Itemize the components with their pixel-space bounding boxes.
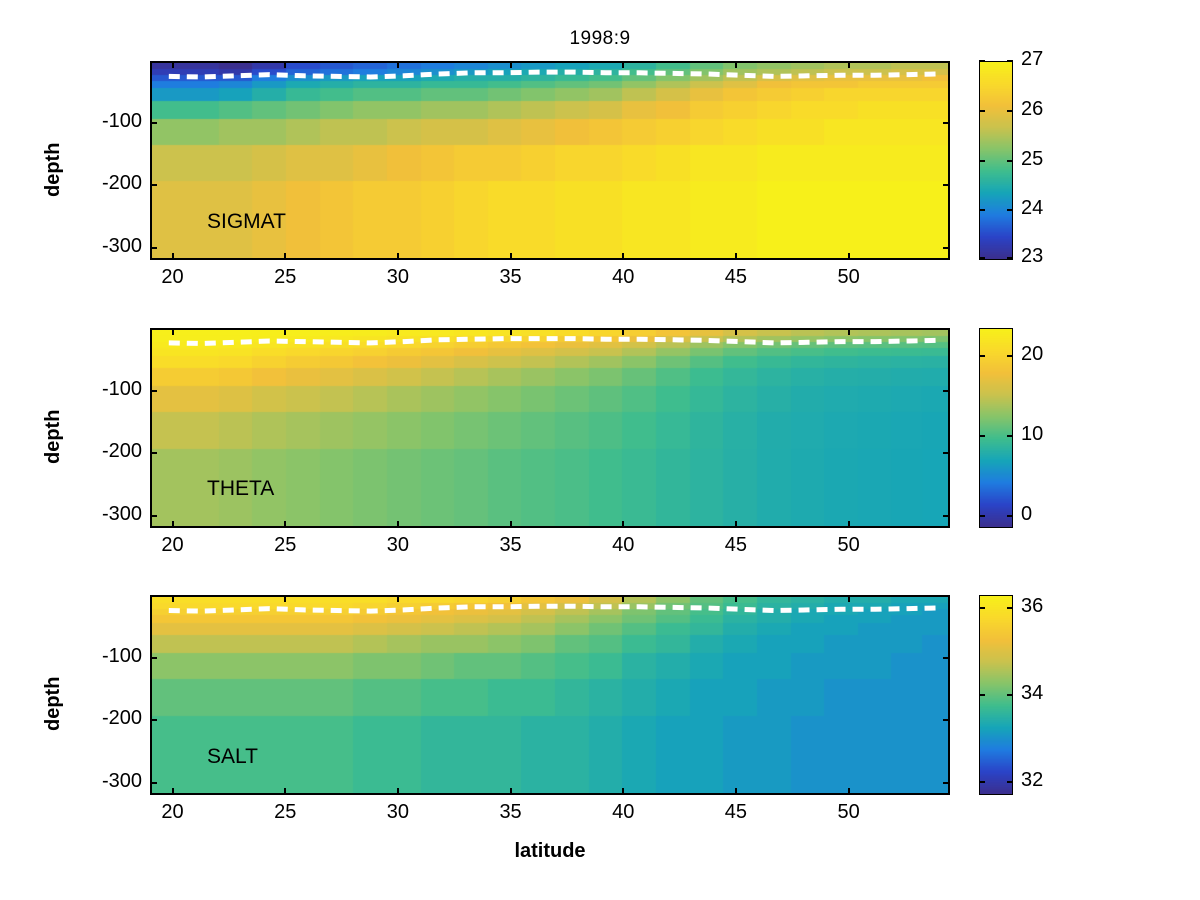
- x-tick-label: 30: [368, 534, 428, 557]
- colorbar-tickmark: [1007, 694, 1013, 696]
- x-tickmark: [510, 328, 512, 335]
- y-tickmark: [150, 719, 157, 721]
- x-tickmark: [284, 61, 286, 68]
- colorbar-theta: [979, 328, 1013, 528]
- colorbar-tick-label: 32: [1021, 769, 1043, 792]
- x-tickmark: [848, 788, 850, 795]
- x-tickmark: [510, 61, 512, 68]
- colorbar-tick-label: 26: [1021, 98, 1043, 121]
- colorbar-tickmark: [979, 160, 985, 162]
- colorbar-tickmark: [1007, 781, 1013, 783]
- colorbar-tickmark: [979, 781, 985, 783]
- panel-label-theta: THETA: [207, 477, 274, 501]
- y-tick-label: -300: [50, 770, 142, 793]
- x-tick-label: 20: [143, 801, 203, 824]
- x-tickmark: [284, 521, 286, 528]
- x-tickmark: [848, 253, 850, 260]
- x-tickmark: [172, 521, 174, 528]
- x-tick-label: 35: [481, 534, 541, 557]
- x-tickmark: [510, 595, 512, 602]
- colorbar-tickmark: [1007, 160, 1013, 162]
- panel-salt: [150, 595, 950, 795]
- colorbar-tickmark: [979, 209, 985, 211]
- x-tickmark: [397, 253, 399, 260]
- x-tick-label: 30: [368, 801, 428, 824]
- colorbar-tick-label: 27: [1021, 48, 1043, 71]
- y-tickmark: [943, 452, 950, 454]
- colorbar-tickmark: [1007, 110, 1013, 112]
- y-axis-label: depth: [42, 677, 65, 731]
- x-tick-label: 45: [706, 534, 766, 557]
- y-tickmark: [150, 452, 157, 454]
- y-tickmark: [943, 719, 950, 721]
- x-tick-label: 25: [255, 266, 315, 289]
- x-tick-label: 40: [593, 266, 653, 289]
- colorbar-tick-label: 34: [1021, 682, 1043, 705]
- y-tickmark: [150, 515, 157, 517]
- x-tickmark: [735, 595, 737, 602]
- x-tickmark: [735, 253, 737, 260]
- colorbar-tickmark: [1007, 257, 1013, 259]
- x-tickmark: [172, 253, 174, 260]
- y-tickmark: [943, 657, 950, 659]
- y-tickmark: [150, 657, 157, 659]
- x-tickmark: [397, 521, 399, 528]
- x-tickmark: [848, 595, 850, 602]
- x-tick-label: 25: [255, 801, 315, 824]
- x-tickmark: [284, 253, 286, 260]
- y-tickmark: [943, 390, 950, 392]
- colorbar-tickmark: [979, 257, 985, 259]
- y-tickmark: [150, 122, 157, 124]
- y-tick-label: -100: [50, 378, 142, 401]
- colorbar-tickmark: [979, 110, 985, 112]
- y-axis-label: depth: [42, 142, 65, 196]
- x-tickmark: [735, 61, 737, 68]
- y-tick-label: -300: [50, 503, 142, 526]
- colorbar-tickmark: [1007, 435, 1013, 437]
- figure: 1998:9 SIGMAT THETA SALT -100-200-300202…: [0, 0, 1200, 900]
- figure-title: 1998:9: [0, 28, 1200, 50]
- x-tickmark: [172, 595, 174, 602]
- x-tick-label: 35: [481, 266, 541, 289]
- x-tickmark: [848, 328, 850, 335]
- x-tick-label: 45: [706, 801, 766, 824]
- colorbar-tickmark: [1007, 60, 1013, 62]
- x-tick-label: 40: [593, 534, 653, 557]
- x-tickmark: [622, 253, 624, 260]
- x-tickmark: [735, 328, 737, 335]
- x-tick-label: 25: [255, 534, 315, 557]
- x-tick-label: 40: [593, 801, 653, 824]
- colorbar-tick-label: 0: [1021, 503, 1032, 526]
- x-tickmark: [735, 521, 737, 528]
- y-tickmark: [150, 247, 157, 249]
- x-tickmark: [284, 788, 286, 795]
- x-tickmark: [172, 328, 174, 335]
- x-tickmark: [397, 788, 399, 795]
- x-tickmark: [397, 595, 399, 602]
- colorbar-tickmark: [979, 355, 985, 357]
- x-tickmark: [284, 595, 286, 602]
- x-tickmark: [510, 521, 512, 528]
- y-tickmark: [943, 515, 950, 517]
- x-tick-label: 45: [706, 266, 766, 289]
- x-axis-label: latitude: [450, 840, 650, 863]
- colorbar-tickmark: [979, 607, 985, 609]
- y-tickmark: [943, 122, 950, 124]
- x-tickmark: [848, 61, 850, 68]
- x-tick-label: 50: [819, 266, 879, 289]
- x-tick-label: 50: [819, 534, 879, 557]
- x-tickmark: [284, 328, 286, 335]
- y-tickmark: [150, 782, 157, 784]
- x-tickmark: [622, 521, 624, 528]
- x-tickmark: [735, 788, 737, 795]
- colorbar-tickmark: [979, 515, 985, 517]
- colorbar-tickmark: [979, 694, 985, 696]
- y-tick-label: -300: [50, 235, 142, 258]
- x-tickmark: [622, 61, 624, 68]
- y-tickmark: [150, 184, 157, 186]
- y-tickmark: [150, 390, 157, 392]
- x-tickmark: [397, 61, 399, 68]
- x-tickmark: [510, 788, 512, 795]
- y-tick-label: -100: [50, 645, 142, 668]
- colorbar-tick-label: 10: [1021, 423, 1043, 446]
- x-tickmark: [622, 788, 624, 795]
- y-tickmark: [943, 247, 950, 249]
- colorbar-tick-label: 25: [1021, 148, 1043, 171]
- x-tick-label: 35: [481, 801, 541, 824]
- y-axis-label: depth: [42, 410, 65, 464]
- x-tick-label: 20: [143, 534, 203, 557]
- panel-label-sigmat: SIGMAT: [207, 210, 286, 234]
- x-tickmark: [510, 253, 512, 260]
- colorbar-tick-label: 23: [1021, 245, 1043, 268]
- x-tick-label: 30: [368, 266, 428, 289]
- x-tickmark: [622, 595, 624, 602]
- colorbar-tickmark: [979, 60, 985, 62]
- x-tickmark: [397, 328, 399, 335]
- colorbar-tick-label: 20: [1021, 343, 1043, 366]
- colorbar-tickmark: [979, 435, 985, 437]
- x-tickmark: [848, 521, 850, 528]
- colorbar-tickmark: [1007, 515, 1013, 517]
- colorbar-tick-label: 36: [1021, 595, 1043, 618]
- x-tickmark: [172, 61, 174, 68]
- x-tickmark: [172, 788, 174, 795]
- colorbar-tickmark: [1007, 355, 1013, 357]
- y-tickmark: [943, 782, 950, 784]
- x-tick-label: 50: [819, 801, 879, 824]
- panel-label-salt: SALT: [207, 745, 258, 769]
- colorbar-tick-label: 24: [1021, 197, 1043, 220]
- colorbar-tickmark: [1007, 209, 1013, 211]
- colorbar-tickmark: [1007, 607, 1013, 609]
- x-tick-label: 20: [143, 266, 203, 289]
- x-tickmark: [622, 328, 624, 335]
- y-tick-label: -100: [50, 110, 142, 133]
- y-tickmark: [943, 184, 950, 186]
